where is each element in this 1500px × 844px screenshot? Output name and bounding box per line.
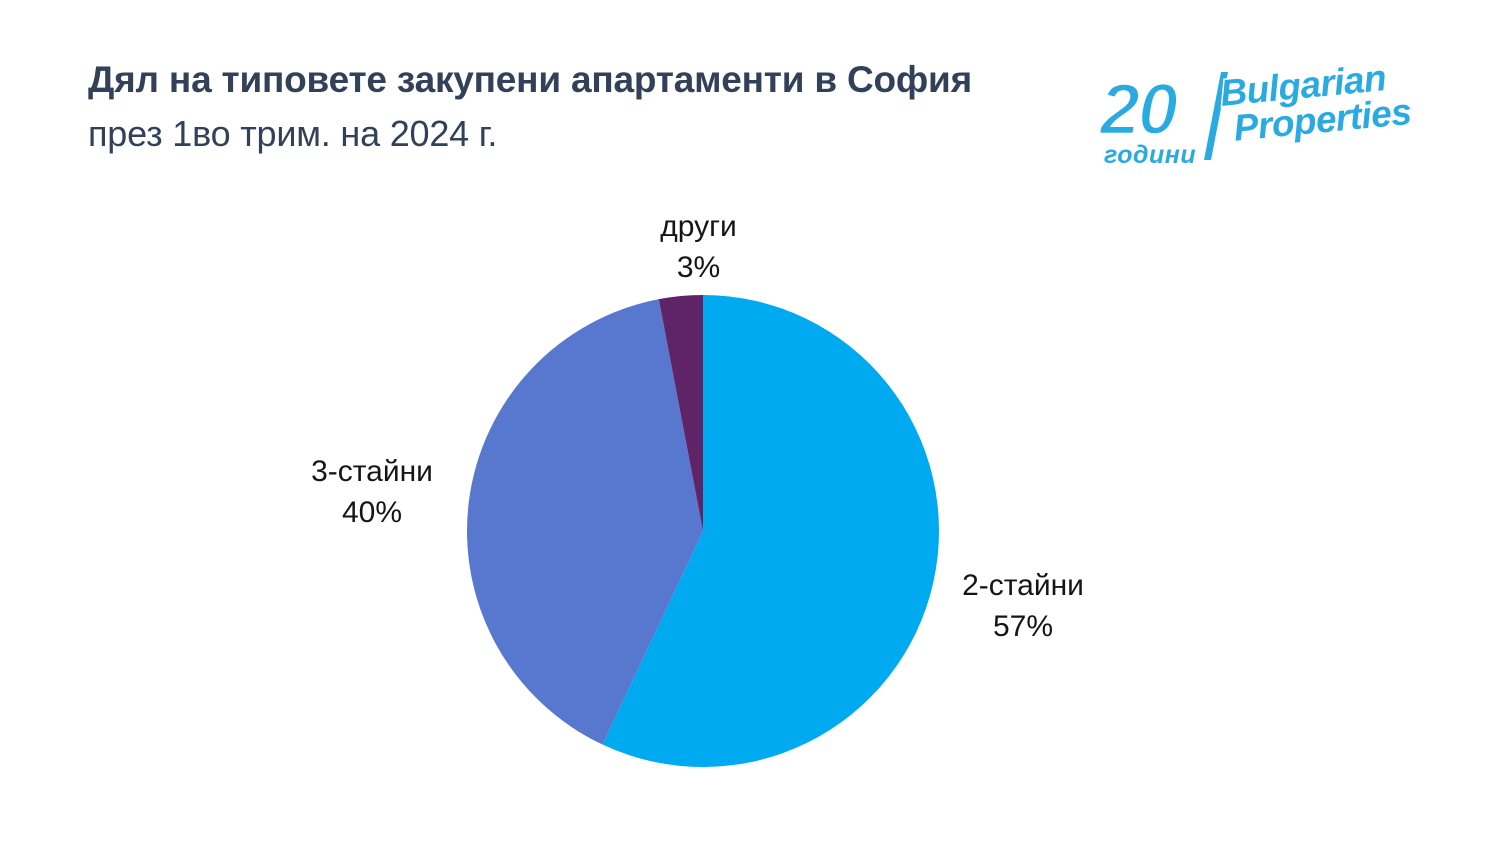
slice-label-three-room-value: 40% — [272, 492, 472, 533]
slice-label-other-name: други — [591, 206, 806, 247]
slice-label-three-room: 3-стайни 40% — [272, 451, 472, 534]
slice-label-two-room: 2-стайни 57% — [908, 565, 1138, 648]
slice-label-two-room-name: 2-стайни — [908, 565, 1138, 606]
pie-slice-group — [467, 295, 939, 767]
slice-label-two-room-value: 57% — [908, 606, 1138, 647]
slice-label-other: други 3% — [591, 206, 806, 289]
slice-label-other-value: 3% — [591, 247, 806, 288]
pie-chart-svg — [0, 0, 1500, 844]
pie-chart: други 3% 3-стайни 40% 2-стайни 57% — [0, 0, 1500, 844]
slice-label-three-room-name: 3-стайни — [272, 451, 472, 492]
